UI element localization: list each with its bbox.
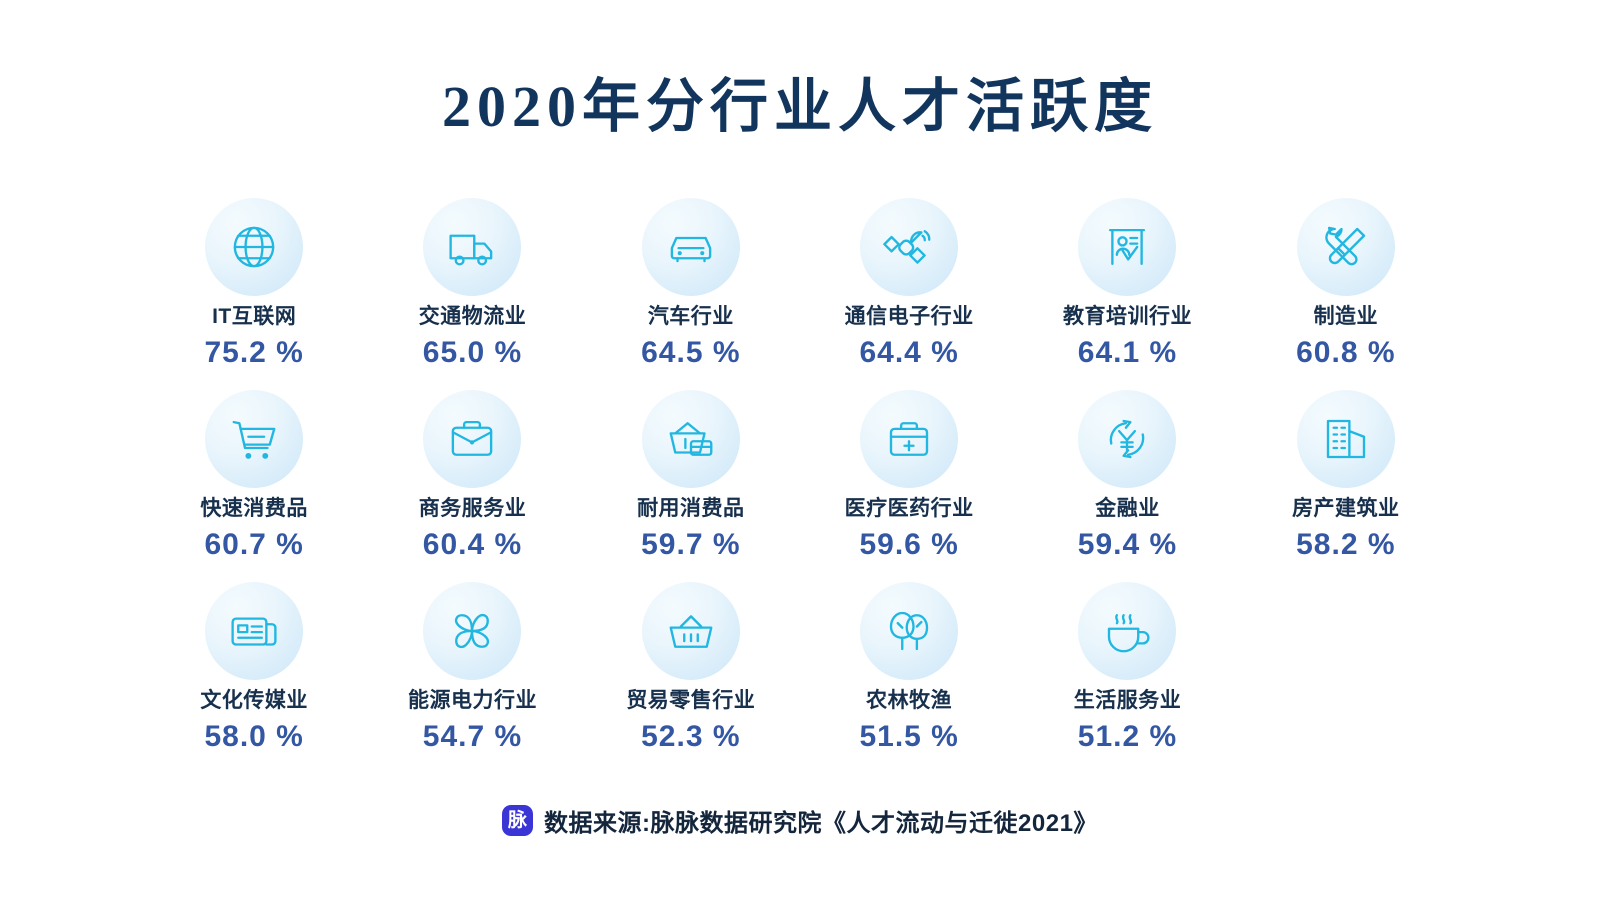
industry-label: 耐用消费品 [637,496,745,521]
coffee-cup-icon [1100,604,1154,658]
icon-badge [1297,198,1395,296]
industry-value: 59.6 % [859,528,958,561]
industry-label: 金融业 [1095,496,1160,521]
industry-cell-trade-retail[interactable]: 贸易零售行业 52.3 % [582,582,800,758]
industry-value: 64.5 % [641,336,740,369]
icon-badge [205,582,303,680]
medical-kit-icon [882,412,936,466]
industry-cell-fmcg[interactable]: 快速消费品 60.7 % [145,390,363,566]
car-icon [664,220,718,274]
newspaper-icon [227,604,281,658]
goods-card-icon [664,412,718,466]
infographic-page: 2020年分行业人才活跃度 IT互联网 75.2 % [0,0,1600,900]
icon-badge [1297,390,1395,488]
industry-cell-realestate-construction[interactable]: 房产建筑业 58.2 % [1237,390,1455,566]
globe-icon [227,220,281,274]
industry-label: 医疗医药行业 [845,496,974,521]
windmill-icon [445,604,499,658]
icon-badge [205,198,303,296]
industry-value: 75.2 % [204,336,303,369]
industry-label: 能源电力行业 [408,688,537,713]
icon-badge [1078,198,1176,296]
title-container: 2020年分行业人才活跃度 [0,0,1600,136]
icon-badge [860,390,958,488]
industry-cell-manufacturing[interactable]: 制造业 60.8 % [1237,198,1455,374]
industry-label: 房产建筑业 [1292,496,1400,521]
industry-value: 59.4 % [1078,528,1177,561]
industry-cell-energy-power[interactable]: 能源电力行业 54.7 % [363,582,581,758]
industry-label: 商务服务业 [419,496,527,521]
industry-label: 交通物流业 [419,304,527,329]
industry-value: 60.7 % [204,528,303,561]
industry-label: 汽车行业 [648,304,734,329]
industry-value: 59.7 % [641,528,740,561]
buildings-icon [1319,412,1373,466]
industry-cell-transport-logistics[interactable]: 交通物流业 65.0 % [363,198,581,374]
briefcase-icon [445,412,499,466]
page-title: 2020年分行业人才活跃度 [0,78,1600,136]
industry-value: 64.4 % [859,336,958,369]
icon-badge [1078,390,1176,488]
icon-badge [642,198,740,296]
trees-icon [882,604,936,658]
industry-value: 51.2 % [1078,720,1177,753]
truck-icon [445,220,499,274]
icon-badge [423,582,521,680]
industry-value: 58.2 % [1296,528,1395,561]
yuan-cycle-icon [1100,412,1154,466]
basket-icon [664,604,718,658]
certificate-icon [1100,220,1154,274]
industry-value: 60.8 % [1296,336,1395,369]
industry-cell-finance[interactable]: 金融业 59.4 % [1018,390,1236,566]
icon-badge [860,582,958,680]
industry-cell-life-services[interactable]: 生活服务业 51.2 % [1018,582,1236,758]
satellite-icon [882,220,936,274]
shopping-cart-icon [227,412,281,466]
industry-value: 65.0 % [423,336,522,369]
icon-badge [642,582,740,680]
icon-badge [860,198,958,296]
industry-cell-agriculture-forestry[interactable]: 农林牧渔 51.5 % [800,582,1018,758]
industry-value: 52.3 % [641,720,740,753]
icon-badge [423,198,521,296]
industry-cell-telecom-electronics[interactable]: 通信电子行业 64.4 % [800,198,1018,374]
industry-label: 教育培训行业 [1063,304,1192,329]
industry-cell-durable-goods[interactable]: 耐用消费品 59.7 % [582,390,800,566]
industry-label: 制造业 [1314,304,1379,329]
industry-cell-healthcare-pharma[interactable]: 医疗医药行业 59.6 % [800,390,1018,566]
industry-value: 51.5 % [859,720,958,753]
industry-cell-education-training[interactable]: 教育培训行业 64.1 % [1018,198,1236,374]
industry-grid: IT互联网 75.2 % 交通物流业 65.0 % [145,136,1455,758]
icon-badge [642,390,740,488]
icon-badge [423,390,521,488]
industry-label: 贸易零售行业 [626,688,755,713]
industry-cell-business-services[interactable]: 商务服务业 60.4 % [363,390,581,566]
industry-value: 60.4 % [423,528,522,561]
industry-label: 农林牧渔 [866,688,952,713]
icon-badge [1078,582,1176,680]
industry-cell-it-internet[interactable]: IT互联网 75.2 % [145,198,363,374]
industry-label: 快速消费品 [200,496,308,521]
industry-cell-automotive[interactable]: 汽车行业 64.5 % [582,198,800,374]
icon-badge [205,390,303,488]
industry-label: 文化传媒业 [200,688,308,713]
industry-value: 54.7 % [423,720,522,753]
industry-value: 58.0 % [204,720,303,753]
maimai-logo-icon: 脉 [502,805,533,836]
industry-label: IT互联网 [212,304,296,329]
source-text: 数据来源:脉脉数据研究院《人才流动与迁徙2021》 [544,803,1098,838]
tools-icon [1319,220,1373,274]
industry-label: 通信电子行业 [845,304,974,329]
source-footer: 脉 数据来源:脉脉数据研究院《人才流动与迁徙2021》 [0,803,1600,838]
industry-value: 64.1 % [1078,336,1177,369]
industry-label: 生活服务业 [1074,688,1182,713]
industry-cell-culture-media[interactable]: 文化传媒业 58.0 % [145,582,363,758]
